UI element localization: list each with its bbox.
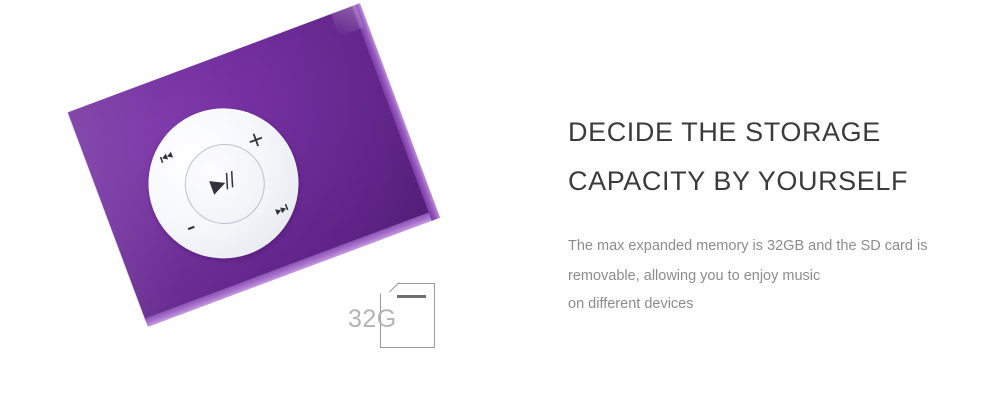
body-copy: The max expanded memory is 32GB and the … (568, 231, 968, 317)
body-line-2: removable, allowing you to enjoy music (568, 261, 968, 291)
previous-track-icon[interactable]: ⏮ (158, 149, 176, 168)
headline: DECIDE THE STORAGE CAPACITY BY YOURSELF (568, 108, 968, 206)
volume-up-icon[interactable]: ＋ (246, 131, 268, 153)
product-image: ⏮ ＋ – ⏭ ▶∕∕ 32G (0, 0, 520, 401)
body-line-3: on different devices (568, 291, 968, 317)
sd-card-illustration: 32G (380, 283, 435, 348)
next-track-icon[interactable]: ⏭ (273, 200, 291, 219)
headline-line-1: DECIDE THE STORAGE (568, 108, 968, 157)
sd-card-capacity-label: 32G (348, 305, 397, 334)
volume-down-icon[interactable]: – (184, 219, 198, 238)
copy-block: DECIDE THE STORAGE CAPACITY BY YOURSELF … (568, 108, 968, 317)
mp3-player-device: ⏮ ＋ – ⏭ ▶∕∕ (68, 6, 431, 321)
sd-card-contact-bar (397, 295, 426, 298)
product-feature-banner: ⏮ ＋ – ⏭ ▶∕∕ 32G DECIDE THE STORAGE CAPAC… (0, 0, 1000, 401)
body-line-1: The max expanded memory is 32GB and the … (568, 231, 968, 261)
headline-line-2: CAPACITY BY YOURSELF (568, 157, 968, 206)
